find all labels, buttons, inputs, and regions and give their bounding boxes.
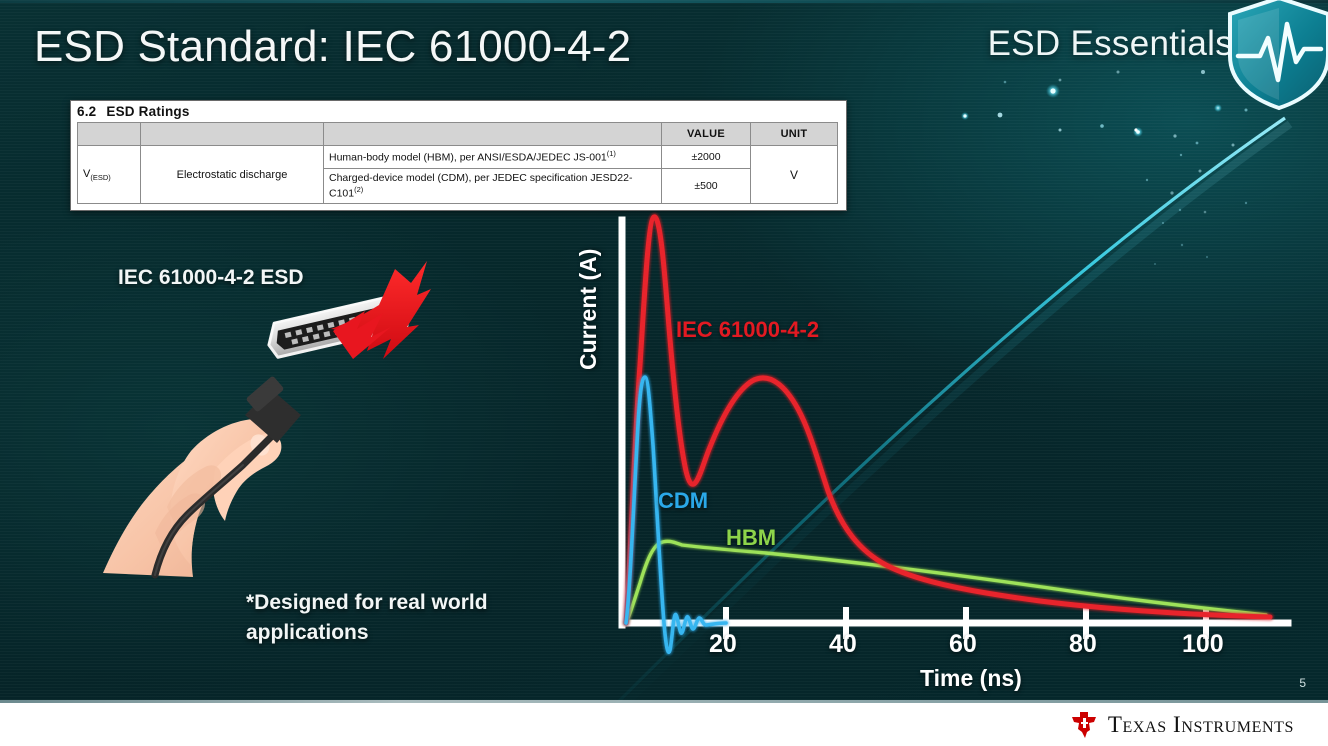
x-tick-label-20: 20: [709, 630, 737, 659]
design-note-line2: applications: [246, 621, 369, 644]
design-note-line1: *Designed for real world: [246, 591, 488, 614]
page-number: 5: [1299, 676, 1306, 690]
cell-value-hbm: ±2000: [662, 146, 751, 169]
series-label-hbm: HBM: [726, 525, 776, 551]
table-caption-text: ESD Ratings: [106, 104, 189, 119]
hand-connector-illustration: [95, 255, 445, 585]
footnote-2: (2): [354, 185, 363, 194]
hdmi-connector: [264, 293, 412, 359]
texas-instruments-logo-icon: [1069, 710, 1099, 740]
chart-y-axis-label: Current (A): [575, 249, 602, 370]
hand-shape: [103, 415, 281, 577]
header-blank-parameter: [141, 123, 324, 146]
x-tick-label-60: 60: [949, 630, 977, 659]
x-tick-label-80: 80: [1069, 630, 1097, 659]
slide: ESD Standard: IEC 61000-4-2 ESD Essentia…: [0, 0, 1328, 746]
shield-icon: [1224, 0, 1328, 112]
chart-x-axis-label: Time (ns): [920, 665, 1022, 692]
chart-svg: [560, 195, 1300, 695]
cell-description-hbm: Human-body model (HBM), per ANSI/ESDA/JE…: [324, 146, 662, 169]
series-label-iec: IEC 61000-4-2: [676, 317, 819, 343]
cell-parameter: Electrostatic discharge: [141, 146, 324, 204]
esd-waveform-chart: [560, 195, 1300, 695]
desc-text-hbm: Human-body model (HBM), per ANSI/ESDA/JE…: [329, 152, 607, 164]
slide-canvas: ESD Standard: IEC 61000-4-2 ESD Essentia…: [0, 0, 1328, 703]
series-label-cdm: CDM: [658, 488, 708, 514]
x-tick-label-40: 40: [829, 630, 857, 659]
design-note: *Designed for real world applications: [246, 588, 546, 648]
ti-logo-block: Texas Instruments: [1069, 710, 1294, 740]
ratings-grid: VALUE UNIT V(ESD) Electrostatic discharg…: [77, 122, 838, 204]
table-caption-number: 6.2: [77, 104, 96, 119]
x-tick-label-100: 100: [1182, 630, 1224, 659]
table-caption: 6.2ESD Ratings: [71, 101, 846, 122]
table-row: V(ESD) Electrostatic discharge Human-bod…: [78, 146, 838, 169]
table-header-row: VALUE UNIT: [78, 123, 838, 146]
esd-illustration-label: IEC 61000-4-2 ESD: [118, 266, 304, 290]
cell-symbol: V(ESD): [78, 146, 141, 204]
footnote-1: (1): [607, 149, 616, 158]
header-blank-symbol: [78, 123, 141, 146]
slide-title: ESD Standard: IEC 61000-4-2: [34, 22, 631, 72]
lightning-bolt-icon: [331, 261, 431, 359]
brand-label: ESD Essentials: [988, 24, 1233, 64]
header-blank-description: [324, 123, 662, 146]
ti-company-name: Texas Instruments: [1108, 712, 1294, 738]
slide-footer: Texas Instruments: [0, 703, 1328, 746]
series-iec61000-4-2: [626, 217, 1270, 623]
symbol-subscript: (ESD): [90, 173, 110, 182]
header-unit: UNIT: [751, 123, 838, 146]
header-value: VALUE: [662, 123, 751, 146]
